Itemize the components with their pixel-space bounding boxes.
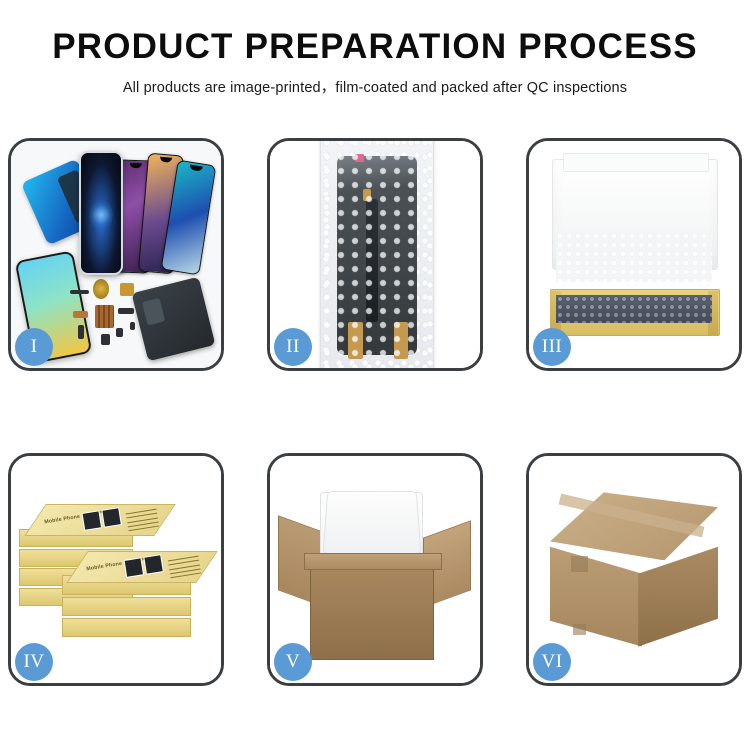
carton-marking-lower bbox=[573, 624, 586, 635]
page-subtitle: All products are image-printed，film-coat… bbox=[0, 76, 750, 97]
part-earpiece bbox=[70, 290, 89, 295]
bubble-wrap-bag bbox=[320, 141, 433, 368]
box-lid-second: Mobile Phone Spare Parts bbox=[67, 551, 218, 583]
step-badge-4: IV bbox=[15, 643, 53, 681]
box-stack: Mobile Phone Spare Parts Mobile Phone Sp… bbox=[19, 483, 212, 660]
part-battery-connector bbox=[116, 328, 123, 337]
bubble-texture-overlay bbox=[321, 141, 432, 368]
box-lid-top: Mobile Phone Spare Parts bbox=[24, 504, 175, 536]
box-spec-lines bbox=[125, 509, 158, 532]
step-panel-3: III bbox=[526, 138, 742, 371]
box-phone-thumbnails bbox=[81, 508, 122, 532]
step-badge-5: V bbox=[274, 643, 312, 681]
part-screw-tray bbox=[95, 305, 114, 328]
bubble-wrapped-contents bbox=[556, 295, 711, 322]
carton-front-face bbox=[550, 547, 642, 647]
step-panel-2: II bbox=[267, 138, 483, 371]
process-steps-grid: I II bbox=[8, 138, 742, 686]
stacked-box bbox=[62, 597, 192, 617]
step-panel-1: I bbox=[8, 138, 224, 371]
step-badge-6: VI bbox=[533, 643, 571, 681]
step-panel-4: Mobile Phone Spare Parts Mobile Phone Sp… bbox=[8, 453, 224, 686]
carton-marking-upper bbox=[571, 556, 588, 572]
page-title: PRODUCT PREPARATION PROCESS bbox=[0, 28, 750, 67]
step-panel-6: VI bbox=[526, 453, 742, 686]
part-speaker bbox=[93, 279, 109, 299]
step-badge-2: II bbox=[274, 328, 312, 366]
part-sim-tray bbox=[78, 325, 85, 339]
part-camera-module bbox=[101, 334, 111, 345]
box-spec-lines bbox=[168, 555, 201, 578]
part-cable-long bbox=[118, 308, 133, 314]
part-flex-connector bbox=[120, 283, 134, 295]
infographic-page: PRODUCT PREPARATION PROCESS All products… bbox=[0, 0, 750, 750]
stacked-box bbox=[62, 618, 192, 638]
tempered-glass-panel bbox=[79, 151, 123, 275]
part-cable-short bbox=[73, 311, 88, 318]
step-panel-5: V bbox=[267, 453, 483, 686]
foam-sheet bbox=[556, 232, 711, 282]
box-phone-thumbnails bbox=[123, 554, 164, 578]
foam-box-lid bbox=[322, 491, 421, 553]
part-button bbox=[130, 322, 136, 330]
carton-side-face bbox=[638, 547, 718, 647]
small-parts-group bbox=[70, 277, 167, 354]
step-badge-3: III bbox=[533, 328, 571, 366]
phone-fan-group bbox=[87, 155, 209, 273]
step-badge-1: I bbox=[15, 328, 53, 366]
carton-body bbox=[310, 563, 434, 660]
header: PRODUCT PREPARATION PROCESS All products… bbox=[0, 28, 750, 97]
